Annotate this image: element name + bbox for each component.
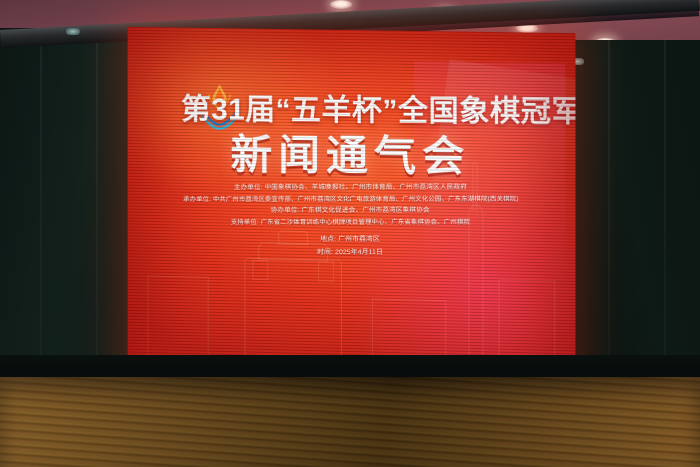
- ceiling-downlight: [330, 0, 352, 9]
- floor-reflection: [0, 377, 700, 467]
- screen-vignette: [128, 27, 576, 402]
- led-display-screen: 第31届“五羊杯”全国象棋冠军赛 新闻通气会 主办单位: 中国象棋协会、羊城晚报…: [128, 27, 576, 402]
- conference-hall-photo: 第31届“五羊杯”全国象棋冠军赛 新闻通气会 主办单位: 中国象棋协会、羊城晚报…: [0, 0, 700, 467]
- pelmet-light: [66, 28, 80, 35]
